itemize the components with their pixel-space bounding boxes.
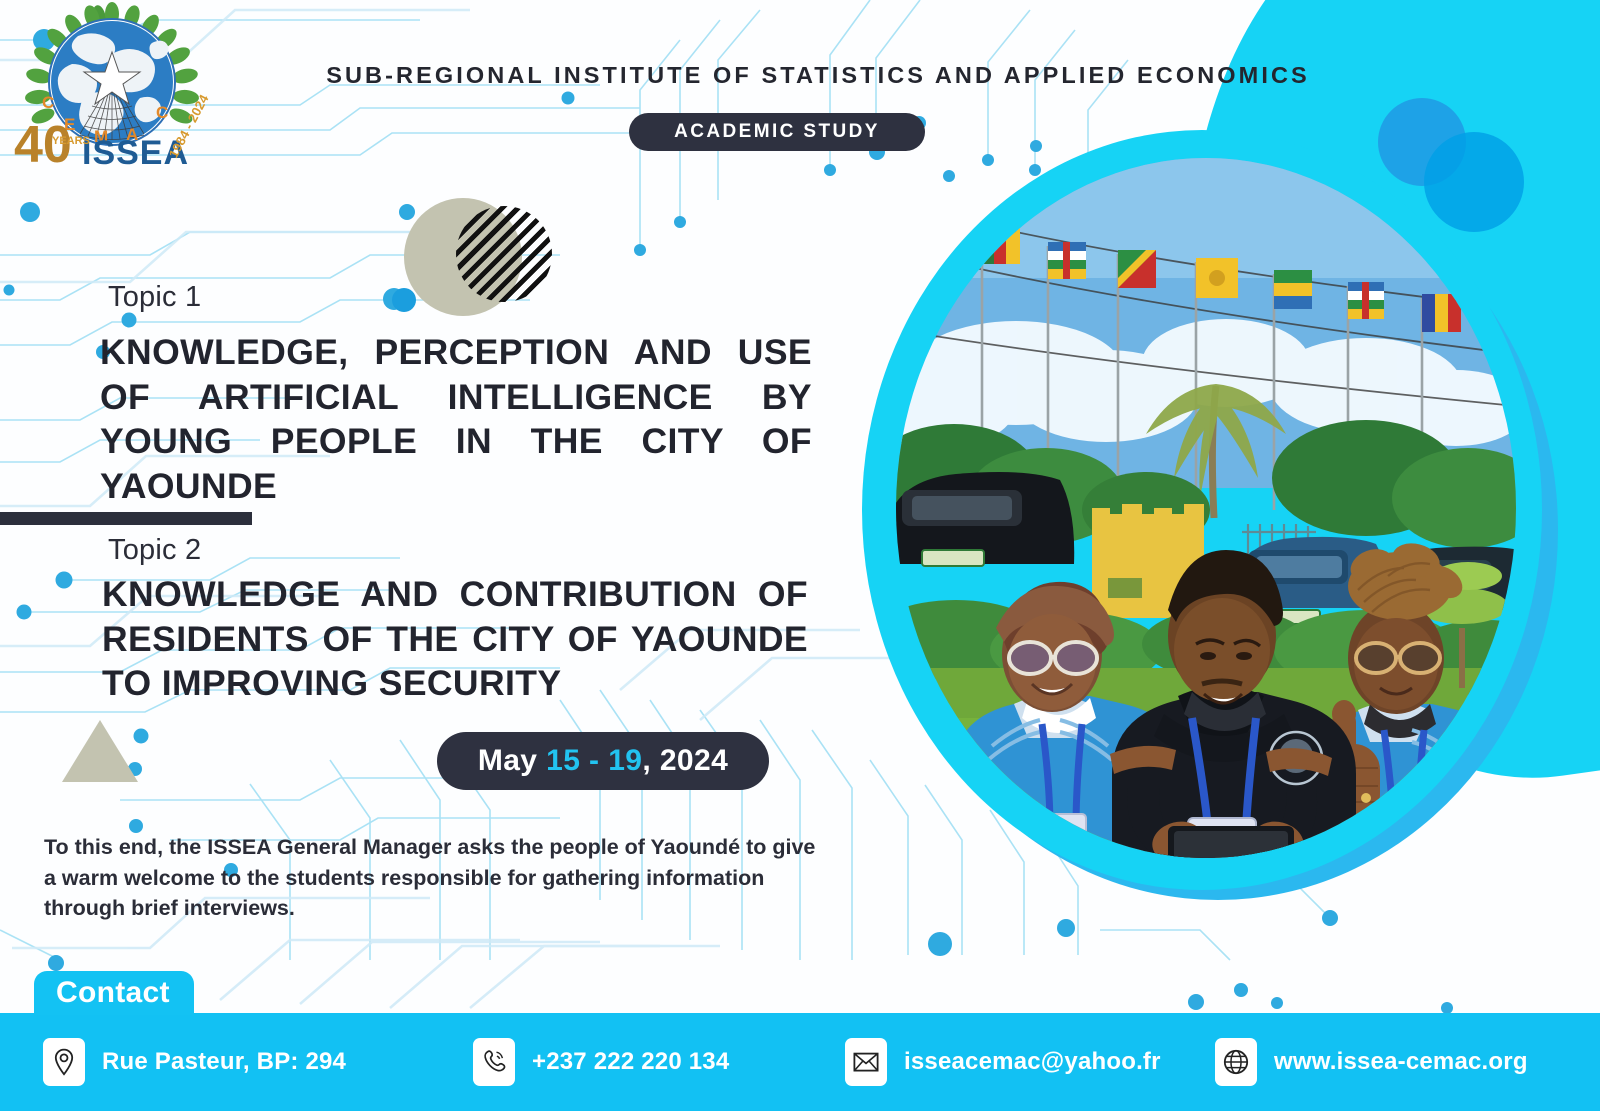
contact-item-email[interactable]: isseacemac@yahoo.fr xyxy=(845,1038,1161,1086)
topic-2-label: Topic 2 xyxy=(108,534,201,567)
contact-item-website[interactable]: www.issea-cemac.org xyxy=(1215,1038,1528,1086)
striped-circle-shape xyxy=(456,206,552,302)
cyan-accent-dot xyxy=(392,288,416,312)
contact-tab-label: Contact xyxy=(34,971,194,1015)
topic-1-label: Topic 1 xyxy=(108,281,201,314)
topic-divider-rule xyxy=(0,512,252,525)
svg-text:YEARS: YEARS xyxy=(52,135,90,147)
envelope-icon xyxy=(845,1038,887,1086)
student-team-photo xyxy=(896,158,1516,858)
contact-website-text: www.issea-cemac.org xyxy=(1274,1048,1528,1076)
institute-title: SUB-REGIONAL INSTITUTE OF STATISTICS AND… xyxy=(258,62,1378,89)
globe-icon xyxy=(1215,1038,1257,1086)
topic-1-title: KNOWLEDGE, PERCEPTION AND USE OF ARTIFIC… xyxy=(100,330,812,509)
topic-2-title: KNOWLEDGE AND CONTRIBUTION OF RESIDENTS … xyxy=(102,572,808,706)
photo-circle-frame xyxy=(860,120,1560,920)
contact-phone-text: +237 222 220 134 xyxy=(532,1048,729,1076)
poster-canvas: C E M A C ISSEA 40 YEARS 1984 - 2024 SUB… xyxy=(0,0,1600,1111)
date-year: , 2024 xyxy=(642,744,728,778)
contact-item-address[interactable]: Rue Pasteur, BP: 294 xyxy=(43,1038,346,1086)
khaki-triangle-decoration xyxy=(62,720,138,782)
contact-address-text: Rue Pasteur, BP: 294 xyxy=(102,1048,346,1076)
svg-text:C: C xyxy=(42,93,54,112)
contact-item-phone[interactable]: +237 222 220 134 xyxy=(473,1038,729,1086)
announcement-paragraph: To this end, the ISSEA General Manager a… xyxy=(44,832,819,924)
date-month: May xyxy=(478,744,538,778)
location-pin-icon xyxy=(43,1038,85,1086)
event-date-badge: May 15 - 19, 2024 xyxy=(437,732,769,790)
date-separator: - xyxy=(589,744,599,778)
contact-items-row: Rue Pasteur, BP: 294 +237 222 220 134 xyxy=(0,1013,1600,1111)
date-day-start: 15 xyxy=(546,744,580,778)
cemac-issea-globe-laurel-logo: C E M A C ISSEA 40 YEARS 1984 - 2024 xyxy=(8,2,213,184)
contact-email-text: isseacemac@yahoo.fr xyxy=(904,1048,1161,1076)
svg-text:C: C xyxy=(156,103,168,122)
phone-icon xyxy=(473,1038,515,1086)
date-day-end: 19 xyxy=(608,744,642,778)
